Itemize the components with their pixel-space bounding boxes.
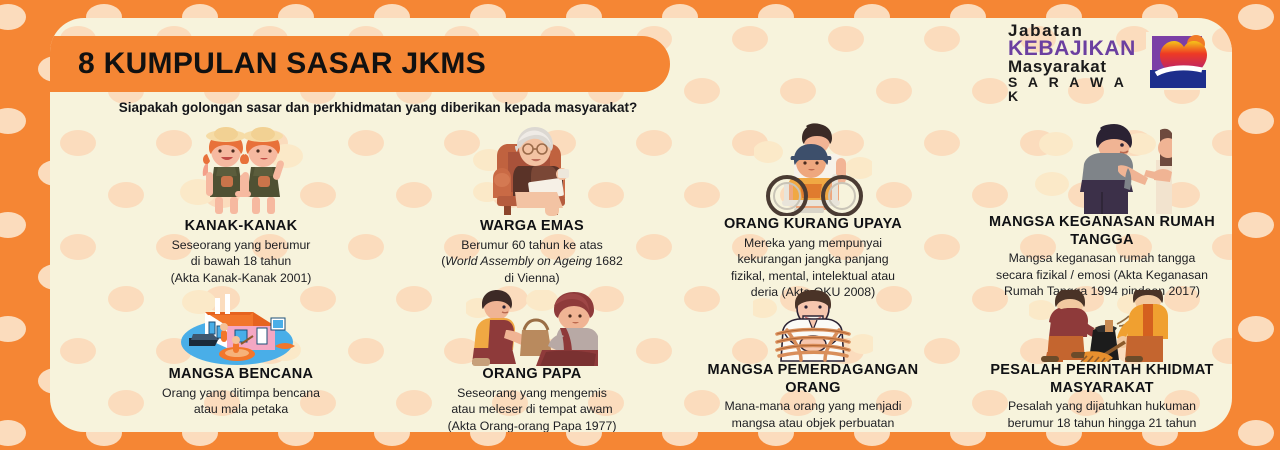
decorative-dot [0,212,26,238]
title-banner: 8 KUMPULAN SASAR JKMS [50,36,670,92]
item-description: Seseorang yang mengemis atau meleser di … [398,385,666,432]
item-description: Berumur 60 tahun ke atas (World Assembly… [398,237,666,286]
decorative-dot [1238,316,1274,342]
item-title: ORANG KURANG UPAYA [678,216,948,234]
item-title: ORANG PAPA [398,366,666,384]
item-description: Mana-mana orang yang menjadi mangsa atau… [678,398,948,432]
flooded-house-rescue-illustration [175,290,307,366]
item-title: KANAK-KANAK [116,218,366,236]
infographic-card: 8 KUMPULAN SASAR JKMS Siapakah golongan … [50,18,1232,432]
item-title: MANGSA BENCANA [116,366,366,384]
bound-gagged-person-illustration [753,290,873,362]
item-title: MANGSA PEMERDAGANGAN ORANG [678,362,948,397]
wheelchair-user-illustration [754,122,872,216]
elderly-woman-armchair-illustration [473,122,591,218]
item-title: WARGA EMAS [398,218,666,236]
item-mangsa-bencana: MANGSA BENCANA Orang yang ditimpa bencan… [116,290,366,418]
logo-wordmark: Jabatan KEBAJIKAN Masyarakat S A R A W A… [1000,22,1140,103]
decorative-dot [0,108,26,134]
subtitle-question: Siapakah golongan sasar dan perkhidmatan… [78,98,678,118]
item-orang-papa: ORANG PAPA Seseorang yang mengemis atau … [398,290,666,432]
decorative-dot [1238,420,1274,446]
item-title: MANGSA KEGANASAN RUMAH TANGGA [962,214,1232,249]
logo-line-kebajikan: KEBAJIKAN [1008,38,1140,59]
decorative-dot [0,316,26,342]
decorative-dot [1238,212,1274,238]
item-pesalah-perintah-khidmat-masyarakat: PESALAH PERINTAH KHIDMAT MASYARAKAT Pesa… [962,290,1232,431]
logo-line-jabatan: Jabatan [1008,22,1140,39]
giving-aid-to-homeless-illustration [466,290,598,366]
jkm-sarawak-logo: Jabatan KEBAJIKAN Masyarakat S A R A W A… [1000,26,1222,98]
item-mangsa-pemerdagangan-orang: MANGSA PEMERDAGANGAN ORANG Mana-mana ora… [678,290,948,432]
item-warga-emas: WARGA EMAS Berumur 60 tahun ke atas (Wor… [398,122,666,286]
page-title: 8 KUMPULAN SASAR JKMS [78,47,486,81]
item-title: PESALAH PERINTAH KHIDMAT MASYARAKAT [962,362,1232,397]
two-children-illustration [178,122,304,218]
item-orang-kurang-upaya: ORANG KURANG UPAYA Mereka yang mempunyai… [678,122,948,301]
community-service-cleanup-illustration [1029,290,1175,362]
item-description: Pesalah yang dijatuhkan hukuman berumur … [962,398,1232,431]
item-description: Orang yang ditimpa bencana atau mala pet… [116,385,366,418]
item-kanak-kanak: KANAK-KANAK Seseorang yang berumur di ba… [116,122,366,286]
decorative-dot [1238,108,1274,134]
logo-line-masyarakat: Masyarakat [1008,58,1140,75]
decorative-dot [0,4,26,30]
decorative-dot [1238,4,1274,30]
domestic-violence-illustration [1032,122,1172,214]
heart-emblem-icon [1140,30,1218,94]
decorative-dot [0,420,26,446]
logo-line-sarawak: S A R A W A K [1008,75,1140,103]
item-description: Seseorang yang berumur di bawah 18 tahun… [116,237,366,286]
item-mangsa-keganasan-rumah-tangga: MANGSA KEGANASAN RUMAH TANGGA Mangsa keg… [962,122,1232,300]
